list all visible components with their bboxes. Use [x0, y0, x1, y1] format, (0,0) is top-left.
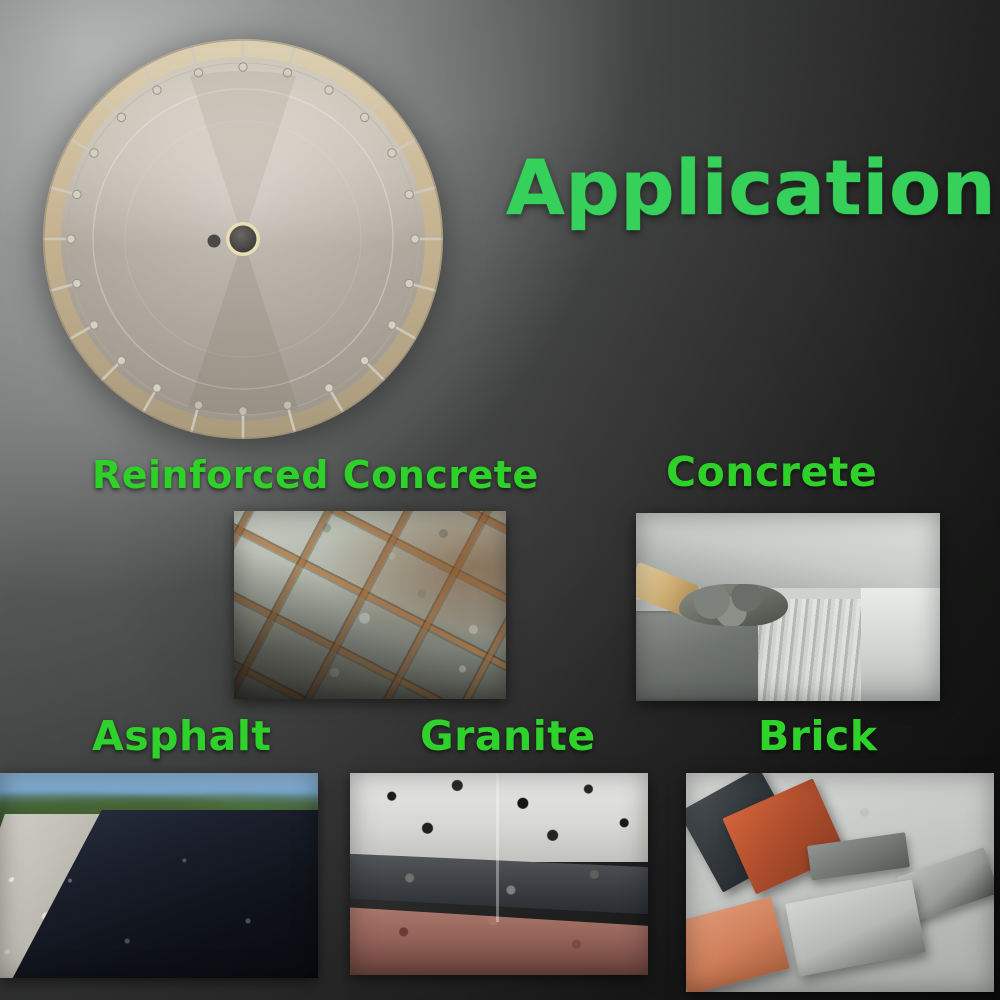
label-asphalt: Asphalt [92, 716, 272, 757]
diamond-saw-blade-image [40, 36, 446, 442]
label-granite: Granite [420, 716, 596, 757]
application-poster: Application Reinforced Concrete Concrete… [0, 0, 1000, 1000]
label-concrete: Concrete [666, 452, 877, 493]
label-brick: Brick [758, 716, 878, 757]
label-reinforced-concrete: Reinforced Concrete [92, 456, 539, 494]
photo-reinforced-concrete [234, 511, 506, 699]
photo-asphalt [0, 773, 318, 978]
photo-brick [686, 773, 994, 992]
page-title: Application [506, 150, 996, 226]
photo-granite [350, 773, 648, 975]
photo-concrete [636, 513, 940, 701]
